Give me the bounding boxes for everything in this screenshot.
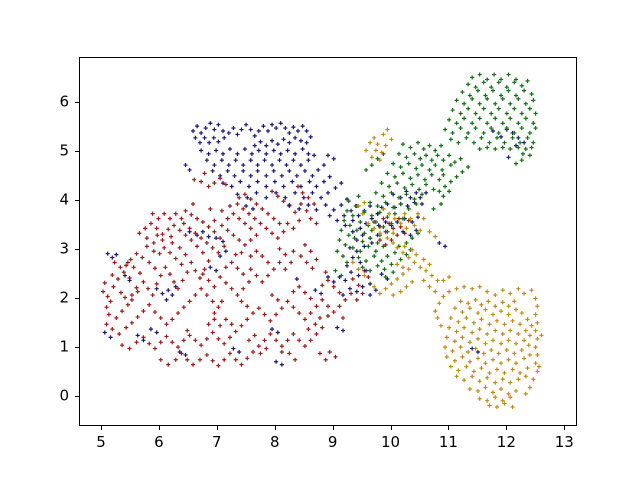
scatter-points-canvas xyxy=(80,58,576,425)
x-tick-mark xyxy=(101,426,102,430)
y-tick-label: 4 xyxy=(39,192,69,207)
y-tick-mark xyxy=(75,102,79,103)
y-tick-label: 6 xyxy=(39,95,69,110)
y-tick-label: 1 xyxy=(39,339,69,354)
y-tick-mark xyxy=(75,298,79,299)
x-tick-label: 12 xyxy=(497,435,516,450)
x-tick-mark xyxy=(217,426,218,430)
scatter-plot-figure: 5678910111213 0123456 xyxy=(0,0,640,480)
y-tick-label: 3 xyxy=(39,241,69,256)
x-tick-label: 6 xyxy=(154,435,164,450)
x-tick-mark xyxy=(333,426,334,430)
y-tick-label: 2 xyxy=(39,290,69,305)
x-tick-mark xyxy=(564,426,565,430)
plot-axes-frame xyxy=(79,57,577,426)
y-tick-mark xyxy=(75,151,79,152)
x-tick-label: 11 xyxy=(439,435,458,450)
x-tick-label: 10 xyxy=(381,435,400,450)
y-tick-label: 5 xyxy=(39,143,69,158)
x-tick-mark xyxy=(391,426,392,430)
x-tick-mark xyxy=(159,426,160,430)
x-tick-label: 7 xyxy=(212,435,222,450)
y-tick-mark xyxy=(75,200,79,201)
x-tick-label: 9 xyxy=(328,435,338,450)
y-tick-mark xyxy=(75,396,79,397)
x-tick-mark xyxy=(506,426,507,430)
x-tick-mark xyxy=(448,426,449,430)
x-tick-label: 5 xyxy=(96,435,106,450)
x-tick-label: 13 xyxy=(555,435,574,450)
x-tick-mark xyxy=(275,426,276,430)
y-tick-mark xyxy=(75,347,79,348)
series-cluster-blue xyxy=(103,121,526,367)
y-tick-label: 0 xyxy=(39,388,69,403)
x-tick-label: 8 xyxy=(270,435,280,450)
series-cluster-gold xyxy=(351,127,544,409)
y-tick-mark xyxy=(75,249,79,250)
